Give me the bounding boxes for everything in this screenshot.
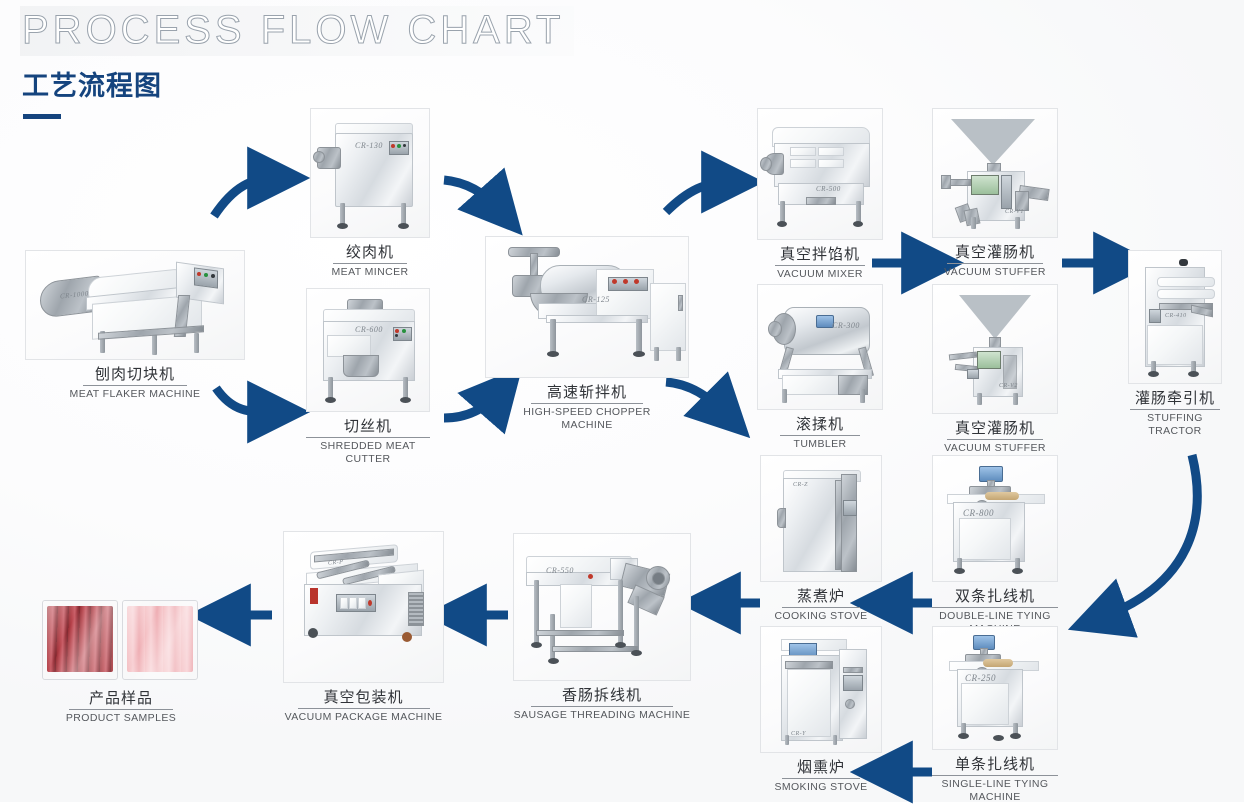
label-cn-tumbler: 滚揉机 — [757, 416, 883, 433]
photo-smoking-stove: CR-Y — [760, 626, 882, 753]
node-cooking-stove[interactable]: CR-Z 蒸煮炉 COOKING STOVE — [760, 455, 882, 623]
process-flow-chart-canvas: PROCESS FLOW CHART 工艺流程图 — [0, 0, 1244, 802]
model-label-sausage-threading: CR-550 — [546, 566, 574, 575]
label-cn-double-line-tying-machine: 双条扎线机 — [932, 588, 1058, 605]
node-shredded-meat-cutter[interactable]: CR-600 切丝机 SHREDDED MEAT CUTTER — [306, 288, 430, 467]
label-en-sausage-threading-machine: SAUSAGE THREADING MACHINE — [513, 709, 691, 722]
photo-product-samples — [42, 600, 200, 680]
caption-meat-flaker-machine: 刨肉切块机 MEAT FLAKER MACHINE — [25, 366, 245, 401]
label-en-meat-mincer: MEAT MINCER — [310, 266, 430, 279]
label-cn-single-line-tying-machine: 单条扎线机 — [932, 756, 1058, 773]
caption-cooking-stove: 蒸煮炉 COOKING STOVE — [760, 588, 882, 623]
photo-vacuum-stuffer-bottom: CR-V2 — [932, 284, 1058, 414]
label-cn-meat-mincer: 绞肉机 — [310, 244, 430, 261]
sample-tray-ham-slices — [122, 600, 198, 680]
photo-vacuum-package-machine: CR-P — [283, 531, 444, 683]
node-vacuum-package-machine[interactable]: CR-P 真空包装机 VACUUM PACKAGE MACHINE — [283, 531, 444, 724]
label-cn-vacuum-package-machine: 真空包装机 — [283, 689, 444, 706]
node-product-samples[interactable]: 产品样品 PRODUCT SAMPLES — [42, 600, 200, 725]
node-single-line-tying-machine[interactable]: CR-250 单条扎线机 SINGLE-LINE TYING MACHINE — [932, 626, 1058, 805]
model-label-cooking-stove: CR-Z — [793, 482, 808, 488]
photo-stuffing-tractor: CR-410 — [1128, 250, 1222, 384]
label-en-high-speed-chopper-machine: HIGH-SPEED CHOPPER MACHINE — [512, 406, 662, 432]
node-stuffing-tractor[interactable]: CR-410 灌肠牵引机 STUFFING TRACTOR — [1128, 250, 1222, 439]
label-en-cooking-stove: COOKING STOVE — [760, 610, 882, 623]
node-smoking-stove[interactable]: CR-Y 烟熏炉 SMOKING STOVE — [760, 626, 882, 794]
label-en-tumbler: TUMBLER — [757, 438, 883, 451]
photo-cooking-stove: CR-Z — [760, 455, 882, 582]
sample-tray-sausages — [42, 600, 118, 680]
node-vacuum-stuffer-bottom[interactable]: CR-V2 真空灌肠机 VACUUM STUFFER — [932, 284, 1058, 455]
node-meat-mincer[interactable]: CR-130 绞肉机 MEAT MINCER — [310, 108, 430, 279]
model-label-vacuum-stuffer-bottom: CR-V2 — [999, 383, 1018, 389]
model-label-high-speed-chopper: CR-125 — [582, 295, 610, 304]
label-cn-stuffing-tractor: 灌肠牵引机 — [1128, 390, 1222, 407]
caption-product-samples: 产品样品 PRODUCT SAMPLES — [42, 690, 200, 725]
photo-vacuum-mixer: CR-500 — [757, 108, 883, 240]
caption-vacuum-stuffer-top: 真空灌肠机 VACUUM STUFFER — [932, 244, 1058, 279]
caption-vacuum-stuffer-bottom: 真空灌肠机 VACUUM STUFFER — [932, 420, 1058, 455]
label-cn-sausage-threading-machine: 香肠拆线机 — [513, 687, 691, 704]
node-meat-flaker-machine[interactable]: CR-1000 刨肉切块机 MEAT FLAKER MACHINE — [25, 250, 245, 401]
caption-vacuum-package-machine: 真空包装机 VACUUM PACKAGE MACHINE — [283, 689, 444, 724]
model-label-smoking-stove: CR-Y — [791, 731, 806, 737]
label-en-vacuum-mixer: VACUUM MIXER — [757, 268, 883, 281]
photo-sausage-threading-machine: CR-550 — [513, 533, 691, 681]
label-en-meat-flaker-machine: MEAT FLAKER MACHINE — [25, 388, 245, 401]
label-cn-product-samples: 产品样品 — [42, 690, 200, 707]
label-en-vacuum-package-machine: VACUUM PACKAGE MACHINE — [283, 711, 444, 724]
node-tumbler[interactable]: CR-300 滚揉机 TUMBLER — [757, 284, 883, 451]
model-label-double-line-tying: CR-800 — [963, 508, 994, 518]
model-label-shredded-meat-cutter: CR-600 — [355, 325, 383, 334]
photo-meat-flaker-machine: CR-1000 — [25, 250, 245, 360]
caption-meat-mincer: 绞肉机 MEAT MINCER — [310, 244, 430, 279]
caption-single-line-tying-machine: 单条扎线机 SINGLE-LINE TYING MACHINE — [932, 756, 1058, 805]
model-label-meat-mincer: CR-130 — [355, 141, 383, 150]
photo-high-speed-chopper-machine: CR-125 — [485, 236, 689, 378]
caption-shredded-meat-cutter: 切丝机 SHREDDED MEAT CUTTER — [306, 418, 430, 467]
photo-vacuum-stuffer-top: CR-V1 — [932, 108, 1058, 238]
arrow-tractor-to-double-tying — [1100, 455, 1197, 618]
node-sausage-threading-machine[interactable]: CR-550 香肠拆线机 SAUSAGE THREADING MACHINE — [513, 533, 691, 722]
caption-sausage-threading-machine: 香肠拆线机 SAUSAGE THREADING MACHINE — [513, 687, 691, 722]
caption-tumbler: 滚揉机 TUMBLER — [757, 416, 883, 451]
node-vacuum-stuffer-top[interactable]: CR-V1 真空灌肠机 VACUUM STUFFER — [932, 108, 1058, 279]
model-label-tumbler: CR-300 — [832, 321, 860, 330]
label-en-shredded-meat-cutter: SHREDDED MEAT CUTTER — [306, 440, 430, 466]
label-cn-vacuum-stuffer-top: 真空灌肠机 — [932, 244, 1058, 261]
label-cn-vacuum-stuffer-bottom: 真空灌肠机 — [932, 420, 1058, 437]
arrow-flaker-to-mincer — [214, 178, 276, 216]
node-vacuum-mixer[interactable]: CR-500 真空拌馅机 VACUUM MIXER — [757, 108, 883, 281]
label-en-smoking-stove: SMOKING STOVE — [760, 781, 882, 794]
label-cn-high-speed-chopper-machine: 高速斩拌机 — [485, 384, 689, 401]
label-cn-meat-flaker-machine: 刨肉切块机 — [25, 366, 245, 383]
photo-double-line-tying-machine: CR-800 — [932, 455, 1058, 582]
caption-vacuum-mixer: 真空拌馅机 VACUUM MIXER — [757, 246, 883, 281]
caption-stuffing-tractor: 灌肠牵引机 STUFFING TRACTOR — [1128, 390, 1222, 439]
label-en-vacuum-stuffer-bottom: VACUUM STUFFER — [932, 442, 1058, 455]
model-label-single-line-tying: CR-250 — [965, 673, 996, 683]
label-cn-cooking-stove: 蒸煮炉 — [760, 588, 882, 605]
model-label-vacuum-mixer: CR-500 — [816, 185, 841, 193]
arrow-mincer-to-chopper — [444, 180, 500, 210]
model-label-vacuum-stuffer-top: CR-V1 — [1005, 209, 1024, 215]
label-en-single-line-tying-machine: SINGLE-LINE TYING MACHINE — [932, 778, 1058, 804]
label-cn-vacuum-mixer: 真空拌馅机 — [757, 246, 883, 263]
caption-smoking-stove: 烟熏炉 SMOKING STOVE — [760, 759, 882, 794]
label-en-vacuum-stuffer-top: VACUUM STUFFER — [932, 266, 1058, 279]
photo-shredded-meat-cutter: CR-600 — [306, 288, 430, 412]
label-en-stuffing-tractor: STUFFING TRACTOR — [1128, 412, 1222, 438]
label-cn-smoking-stove: 烟熏炉 — [760, 759, 882, 776]
caption-high-speed-chopper-machine: 高速斩拌机 HIGH-SPEED CHOPPER MACHINE — [485, 384, 689, 433]
photo-meat-mincer: CR-130 — [310, 108, 430, 238]
model-label-stuffing-tractor: CR-410 — [1165, 313, 1187, 319]
label-cn-shredded-meat-cutter: 切丝机 — [306, 418, 430, 435]
photo-tumbler: CR-300 — [757, 284, 883, 410]
label-en-product-samples: PRODUCT SAMPLES — [42, 712, 200, 725]
node-double-line-tying-machine[interactable]: CR-800 双条扎线机 DOUBLE-LINE TYING MACHINE — [932, 455, 1058, 637]
arrow-chopper-to-mixer — [666, 182, 730, 212]
node-high-speed-chopper-machine[interactable]: CR-125 高速斩拌机 HIGH-SPEED CHOPPER MACHINE — [485, 236, 689, 433]
photo-single-line-tying-machine: CR-250 — [932, 626, 1058, 750]
